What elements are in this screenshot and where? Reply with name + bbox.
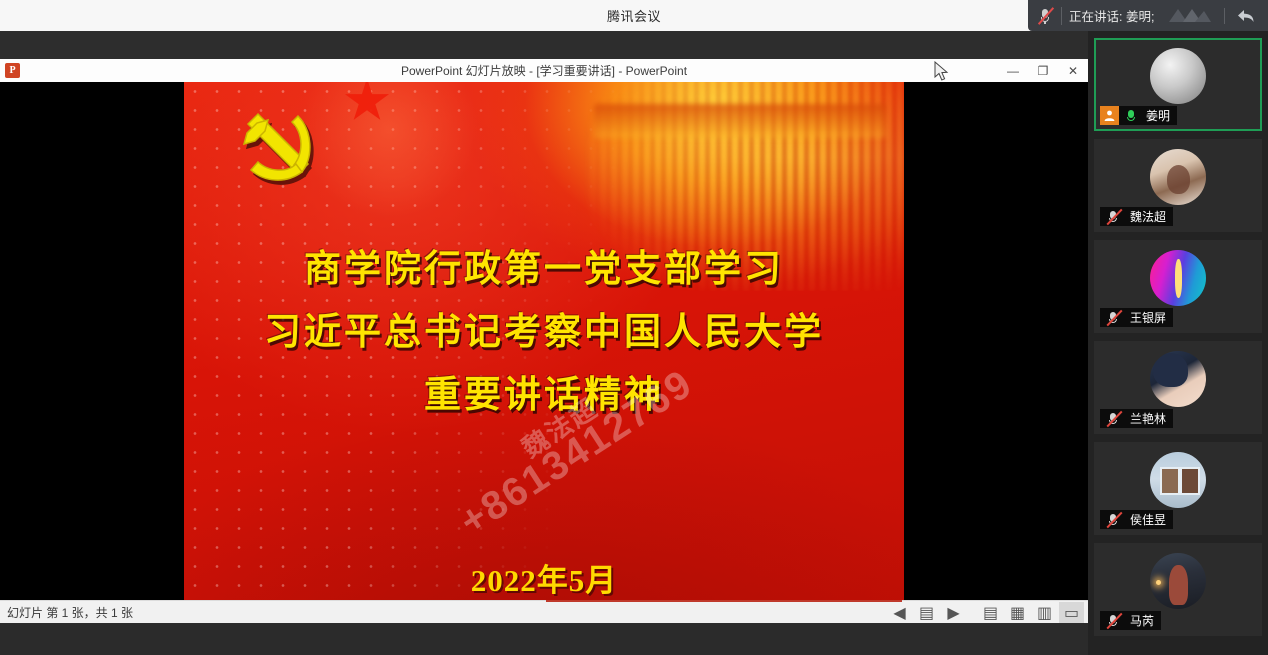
participant-namebar: 侯佳昱	[1100, 510, 1173, 529]
mic-muted-icon	[1104, 511, 1124, 529]
avatar	[1150, 250, 1206, 306]
powerpoint-window-title: PowerPoint 幻灯片放映 - [学习重要讲话] - PowerPoint	[0, 62, 1088, 79]
status-accent-line	[546, 600, 902, 602]
avatar	[1150, 149, 1206, 205]
window-controls: — ❐ ✕	[998, 59, 1088, 82]
participant-name: 侯佳昱	[1130, 511, 1166, 528]
participant-tile[interactable]: 马芮	[1094, 543, 1262, 636]
participant-tile[interactable]: 王银屏	[1094, 240, 1262, 333]
host-badge-icon	[1100, 106, 1119, 125]
participant-namebar: 兰艳林	[1100, 409, 1173, 428]
slide-stage: 商学院行政第一党支部学习 习近平总书记考察中国人民大学 重要讲话精神 +8613…	[0, 82, 1088, 600]
avatar	[1150, 48, 1206, 104]
participant-name: 姜明	[1146, 107, 1170, 124]
audio-wave-icon	[1167, 6, 1211, 26]
slide-title-line-1: 商学院行政第一党支部学习	[184, 237, 904, 300]
participant-name: 王银屏	[1130, 309, 1166, 326]
participant-tile[interactable]: 姜明	[1094, 38, 1262, 131]
slide-counter: 幻灯片 第 1 张，共 1 张	[7, 604, 133, 621]
mic-muted-icon	[1104, 208, 1124, 226]
participant-namebar: 王银屏	[1100, 308, 1173, 327]
previous-slide-button[interactable]: ◀	[887, 602, 912, 623]
meeting-app-title: 腾讯会议	[607, 6, 661, 25]
notes-button[interactable]: ▤	[914, 602, 939, 623]
mic-muted-icon	[1104, 410, 1124, 428]
participant-tile[interactable]: 兰艳林	[1094, 341, 1262, 434]
participant-name: 兰艳林	[1130, 410, 1166, 427]
speaking-indicator-pod[interactable]: 正在讲话: 姜明;	[1028, 0, 1268, 31]
avatar	[1150, 351, 1206, 407]
mic-muted-icon	[1104, 309, 1124, 327]
powerpoint-window: P PowerPoint 幻灯片放映 - [学习重要讲话] - PowerPoi…	[0, 59, 1088, 623]
avatar	[1150, 452, 1206, 508]
participant-tile[interactable]: 魏法超	[1094, 139, 1262, 232]
powerpoint-status-bar: 幻灯片 第 1 张，共 1 张 ◀ ▤ ▶ ▤ ▦ ▥ ▭	[0, 600, 1088, 623]
normal-view-button[interactable]: ▤	[978, 602, 1003, 623]
participant-namebar: 马芮	[1100, 611, 1161, 630]
screen: 腾讯会议 正在讲话: 姜明; P PowerPoint 幻灯片放映 - [学习重…	[0, 0, 1268, 655]
status-bar-buttons: ◀ ▤ ▶ ▤ ▦ ▥ ▭	[887, 601, 1084, 624]
participant-rail[interactable]: 姜明 魏法超 王银屏 兰艳林	[1088, 31, 1268, 655]
participant-tile[interactable]: 侯佳昱	[1094, 442, 1262, 535]
next-slide-button[interactable]: ▶	[941, 602, 966, 623]
slide-canvas[interactable]: 商学院行政第一党支部学习 习近平总书记考察中国人民大学 重要讲话精神 +8613…	[184, 82, 904, 623]
participant-namebar: 姜明	[1100, 106, 1177, 125]
participant-namebar: 魏法超	[1100, 207, 1173, 226]
powerpoint-title-bar[interactable]: P PowerPoint 幻灯片放映 - [学习重要讲话] - PowerPoi…	[0, 59, 1088, 82]
close-button[interactable]: ✕	[1058, 59, 1088, 82]
minimize-button[interactable]: —	[998, 59, 1028, 82]
pod-divider	[1061, 7, 1062, 25]
mic-muted-icon	[1104, 612, 1124, 630]
reading-view-button[interactable]: ▥	[1032, 602, 1057, 623]
participant-name: 马芮	[1130, 612, 1154, 629]
slide-show-button[interactable]: ▭	[1059, 602, 1084, 623]
avatar	[1150, 553, 1206, 609]
speaking-label: 正在讲话: 姜明;	[1069, 6, 1154, 25]
participant-name: 魏法超	[1130, 208, 1166, 225]
restore-button[interactable]: ❐	[1028, 59, 1058, 82]
mic-on-icon	[1122, 107, 1140, 125]
slide-date: 2022年5月	[184, 555, 904, 600]
mic-muted-icon[interactable]	[1036, 7, 1054, 25]
back-arrow-icon[interactable]	[1236, 7, 1256, 25]
pod-divider-2	[1224, 8, 1225, 24]
slide-sorter-button[interactable]: ▦	[1005, 602, 1030, 623]
slide-title-line-3: 重要讲话精神	[184, 363, 904, 426]
mouse-cursor	[934, 61, 950, 83]
hammer-and-sickle-icon	[224, 100, 328, 204]
slide-title-line-2: 习近平总书记考察中国人民大学	[184, 300, 904, 363]
great-hall-roof	[594, 104, 886, 138]
slide-title: 商学院行政第一党支部学习 习近平总书记考察中国人民大学 重要讲话精神	[184, 237, 904, 426]
